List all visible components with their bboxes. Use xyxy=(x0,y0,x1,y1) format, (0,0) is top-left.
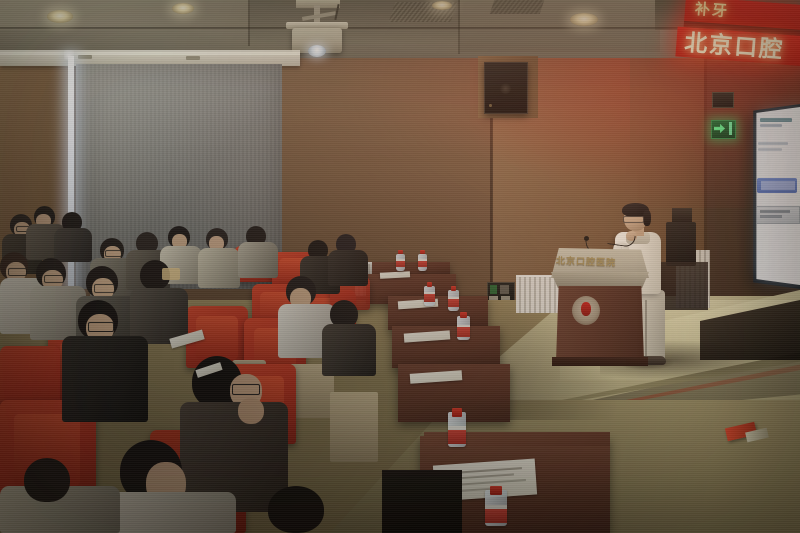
speaker-cone-icon xyxy=(500,83,511,94)
attendee-body xyxy=(322,324,376,376)
slide-caption-line xyxy=(760,215,782,218)
ceiling-tile xyxy=(0,0,250,30)
attendee-body xyxy=(54,228,92,262)
podium-top-edge xyxy=(551,272,649,288)
water-bottle xyxy=(485,486,507,533)
red-led-banner: 补牙 北京口腔 xyxy=(681,0,800,67)
slide-heading-line xyxy=(760,118,792,122)
podium-front-text: 北京口腔医院 xyxy=(556,252,645,271)
slide-caption-line xyxy=(760,210,790,213)
water-bottle xyxy=(448,408,466,454)
wall-mounted-box xyxy=(712,92,734,108)
attendee-hand xyxy=(238,398,264,424)
microphone-capsule-icon xyxy=(584,236,589,241)
downlight-icon xyxy=(570,13,598,26)
attendee-body xyxy=(238,242,278,278)
water-bottle xyxy=(396,250,405,272)
slide-body-line xyxy=(758,142,788,145)
shade-valance-highlight xyxy=(0,50,300,55)
attendee-body xyxy=(328,250,368,286)
speaker-led-icon xyxy=(489,104,492,107)
attendee-body xyxy=(62,336,148,422)
water-bottle xyxy=(457,312,470,344)
podium-base xyxy=(552,357,648,366)
attendee-head xyxy=(24,458,70,502)
projection-screen xyxy=(756,107,800,285)
projector-lens-icon xyxy=(308,45,326,57)
slide-body-line xyxy=(758,148,782,151)
switch-indicator-icon xyxy=(500,285,509,294)
ceiling-seam xyxy=(248,0,250,46)
glasses-icon xyxy=(105,250,122,257)
auditorium-photo: 补牙 北京口腔 北京口腔医院 xyxy=(0,0,800,533)
presenter-trouser-seam xyxy=(645,300,647,360)
ceiling-tile xyxy=(460,0,660,52)
switch-indicator-icon xyxy=(490,285,497,294)
av-equipment xyxy=(666,222,696,266)
glasses-icon xyxy=(623,216,644,223)
shade-clip xyxy=(186,56,200,60)
exit-door-icon xyxy=(729,122,732,135)
downlight-icon xyxy=(172,3,194,14)
av-equipment-shadow xyxy=(660,262,708,310)
glasses-icon xyxy=(88,322,114,332)
downlight-icon xyxy=(432,1,452,10)
attendee-body xyxy=(198,248,240,288)
glasses-icon xyxy=(44,275,64,283)
foreground-dark-mass xyxy=(382,470,462,533)
ceiling-vent-icon xyxy=(490,0,545,14)
seat-end-panel xyxy=(330,392,378,462)
water-bottle xyxy=(424,282,435,308)
downlight-icon xyxy=(47,10,73,23)
shade-clip xyxy=(78,55,92,59)
glasses-icon xyxy=(94,284,115,293)
presenter-hair xyxy=(643,210,651,226)
podium-body xyxy=(556,286,644,361)
water-bottle xyxy=(418,250,427,272)
slide-highlight-text xyxy=(761,181,795,190)
ceiling-seam xyxy=(458,0,460,54)
glasses-icon xyxy=(8,268,27,276)
glasses-icon xyxy=(232,384,260,395)
crest-center-icon xyxy=(581,302,591,316)
handheld-device xyxy=(162,268,180,280)
attendee-head xyxy=(268,486,324,533)
water-bottle xyxy=(448,286,459,313)
daylight-flare xyxy=(64,50,74,60)
slide-heading-line xyxy=(760,124,782,127)
